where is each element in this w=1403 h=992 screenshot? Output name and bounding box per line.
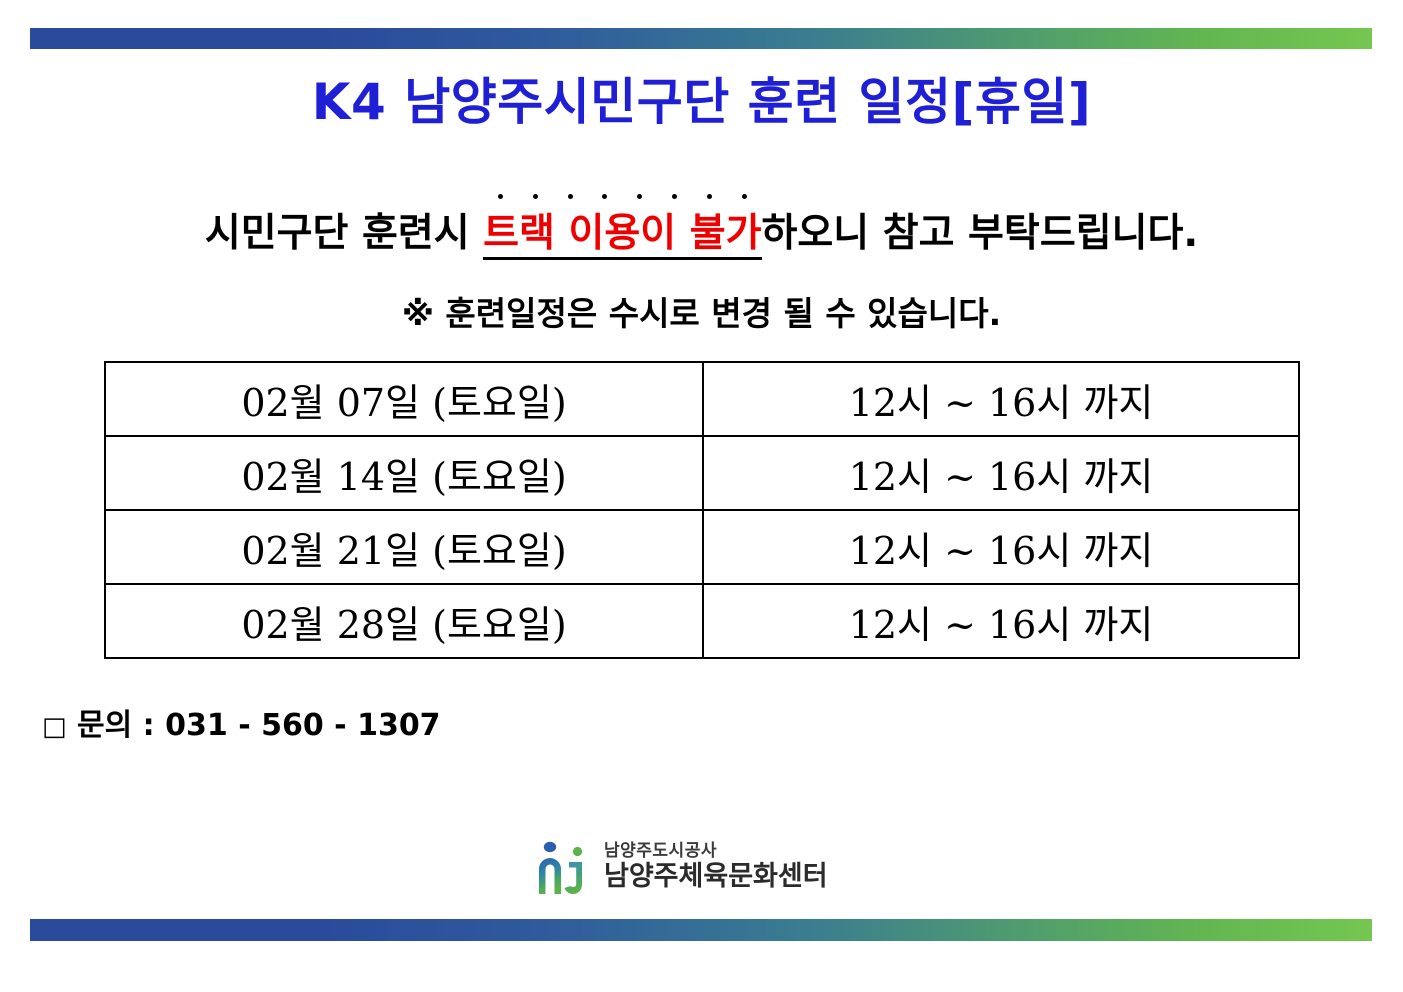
schedule-date-cell: 02월 28일 (토요일) <box>105 584 703 658</box>
notice-sub-line: ※ 훈련일정은 수시로 변경 될 수 있습니다. <box>0 287 1403 335</box>
schedule-time-cell: 12시 ~ 16시 까지 <box>703 584 1299 658</box>
checkbox-square-icon: □ <box>42 712 67 742</box>
table-row: 02월 07일 (토요일) 12시 ~ 16시 까지 <box>105 362 1299 436</box>
notice-suffix: 하오니 참고 부탁드립니다. <box>762 211 1199 256</box>
top-gradient-bar <box>30 28 1372 49</box>
schedule-time-cell: 12시 ~ 16시 까지 <box>703 436 1299 510</box>
training-schedule-table: 02월 07일 (토요일) 12시 ~ 16시 까지 02월 14일 (토요일)… <box>104 361 1300 659</box>
schedule-date-cell: 02월 07일 (토요일) <box>105 362 703 436</box>
logo-text-block: 남양주도시공사 남양주체육문화센터 <box>604 842 828 891</box>
emphasis-dots <box>483 194 761 199</box>
poster-page: K4 남양주시민구단 훈련 일정[휴일] 시민구단 훈련시 트랙 이용이 불가하… <box>0 0 1403 992</box>
organization-logo: 남양주도시공사 남양주체육문화센터 <box>536 838 828 896</box>
notice-main-line: 시민구단 훈련시 트랙 이용이 불가하오니 참고 부탁드립니다. <box>0 202 1403 258</box>
notice-emphasis-text: 트랙 이용이 불가 <box>483 211 761 256</box>
page-title: K4 남양주시민구단 훈련 일정[휴일] <box>0 62 1403 134</box>
notice-prefix: 시민구단 훈련시 <box>205 211 483 256</box>
logo-center-name: 남양주체육문화센터 <box>604 862 828 892</box>
notice-emphasis: 트랙 이용이 불가 <box>483 211 761 260</box>
table-row: 02월 28일 (토요일) 12시 ~ 16시 까지 <box>105 584 1299 658</box>
schedule-date-cell: 02월 21일 (토요일) <box>105 510 703 584</box>
contact-line: □ 문의 : 031 - 560 - 1307 <box>42 700 441 744</box>
namyangju-people-mark-icon <box>536 838 592 896</box>
schedule-time-cell: 12시 ~ 16시 까지 <box>703 362 1299 436</box>
bottom-gradient-bar <box>30 919 1372 941</box>
schedule-time-cell: 12시 ~ 16시 까지 <box>703 510 1299 584</box>
table-row: 02월 14일 (토요일) 12시 ~ 16시 까지 <box>105 436 1299 510</box>
contact-label: 문의 : <box>77 708 155 743</box>
contact-phone: 031 - 560 - 1307 <box>165 708 440 743</box>
schedule-date-cell: 02월 14일 (토요일) <box>105 436 703 510</box>
table-row: 02월 21일 (토요일) 12시 ~ 16시 까지 <box>105 510 1299 584</box>
logo-company-name: 남양주도시공사 <box>604 842 828 862</box>
schedule-body: 02월 07일 (토요일) 12시 ~ 16시 까지 02월 14일 (토요일)… <box>105 362 1299 658</box>
